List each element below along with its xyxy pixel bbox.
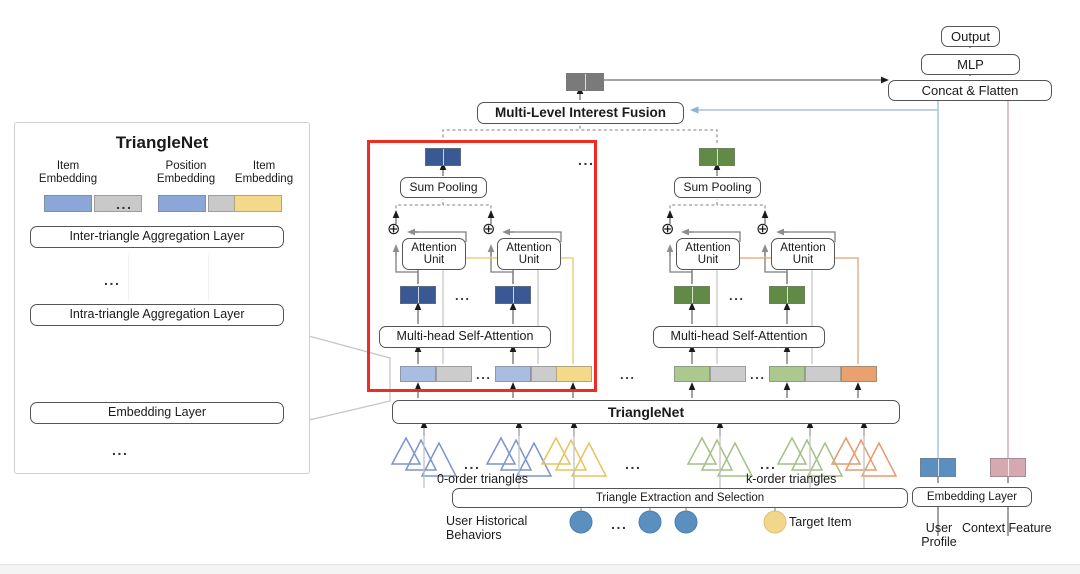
inset-layer-intra-triangle: Intra-triangle Aggregation Layer [30, 304, 284, 326]
module1-mhsa-box[interactable]: Multi-head Self-Attention [379, 326, 551, 348]
module1-attention-unit-2[interactable]: Attention Unit [497, 238, 561, 270]
module1-input-position-1 [436, 366, 472, 382]
module2-plus-up-arrows [670, 214, 765, 224]
triangles-dots-4: ... [760, 456, 776, 472]
module2-input-position-1 [710, 366, 746, 382]
modules-dots-inputs-between: ... [620, 367, 636, 382]
module2-attention-unit-2[interactable]: Attention Unit [771, 238, 835, 270]
inset-label-position-embedding: Position Embedding [140, 160, 232, 186]
inset-title: TriangleNet [14, 133, 310, 152]
label-user-historical-behaviors: User Historical Behaviors [446, 514, 527, 542]
inset-dots-intra: ... [104, 272, 120, 288]
main-triangles-orange [832, 438, 896, 476]
inset-cell-item-blue-1 [44, 195, 92, 212]
right-embedding-layer-box[interactable]: Embedding Layer [912, 487, 1032, 507]
concat-flatten-box[interactable]: Concat & Flatten [888, 80, 1052, 101]
label-target-item: Target Item [789, 515, 852, 529]
module2-pooled-vector [699, 148, 735, 166]
triangles-dots-1: ... [464, 456, 480, 472]
module2-position-lines [717, 266, 812, 364]
inset-layer-embedding: Embedding Layer [30, 402, 284, 424]
module1-input-target [556, 366, 592, 382]
label-context-feature: Context Feature [962, 521, 1052, 535]
inset-layer-inter-triangle: Inter-triangle Aggregation Layer [30, 226, 284, 248]
main-triangles-blue-1 [392, 438, 456, 476]
module1-vector-1 [400, 286, 436, 304]
main-triangles-yellow [542, 438, 606, 476]
context-feature-embedding-vector [990, 458, 1026, 477]
inset-cell-item-blue-2 [158, 195, 206, 212]
target-item-circle [764, 511, 786, 533]
triangles-dots-2: ... [625, 456, 641, 472]
module2-input-item-2 [769, 366, 805, 382]
main-triangles-blue-2 [487, 438, 551, 476]
module-dots-between: ... [578, 152, 594, 168]
inset-dots-triangles: ... [112, 442, 128, 458]
module1-dots-inputs: ... [476, 367, 492, 382]
module2-sum-pooling-dashed [670, 199, 765, 214]
inset-label-item-embedding-1: Item Embedding [26, 160, 110, 186]
module2-input-item-1 [674, 366, 710, 382]
module1-sum-pooling-box[interactable]: Sum Pooling [400, 177, 487, 198]
module1-vector-2 [495, 286, 531, 304]
inset-label-item-embedding-2: Item Embedding [222, 160, 306, 186]
main-triangles-green-2 [778, 438, 842, 476]
module2-target-lines [729, 258, 858, 364]
module1-input-item-2 [495, 366, 531, 382]
main-triangles-green-1 [688, 438, 752, 476]
module2-dots-vectors: ... [729, 288, 745, 303]
module2-input-target [841, 366, 877, 382]
module1-input-item-1 [400, 366, 436, 382]
behaviors-dots: ... [611, 516, 627, 532]
mlp-box[interactable]: MLP [921, 54, 1020, 75]
module1-dots-vectors: ... [455, 288, 471, 303]
multi-level-interest-fusion-box[interactable]: Multi-Level Interest Fusion [477, 102, 684, 124]
fusion-output-vector [566, 73, 604, 91]
triangles-to-trianglenet-arrows [424, 424, 864, 436]
label-k-order-triangles: k-order triangles [746, 472, 836, 486]
module1-pooled-vector [425, 148, 461, 166]
module2-plus-icon-1: ⊕ [661, 221, 674, 239]
output-box[interactable]: Output [941, 26, 1000, 47]
inset-dots-embeddings: ... [116, 196, 132, 212]
page-footer-strip [0, 564, 1080, 574]
module2-plus-icon-2: ⊕ [756, 221, 769, 239]
user-behavior-circles [570, 511, 697, 533]
module1-plus-icon-2: ⊕ [482, 221, 495, 239]
architecture-diagram: TriangleNet Item Embedding Position Embe… [0, 0, 1080, 574]
module2-vector-1 [674, 286, 710, 304]
label-0-order-triangles: 0-order triangles [437, 472, 528, 486]
trianglenet-main-box[interactable]: TriangleNet [392, 400, 900, 424]
module2-sum-pooling-box[interactable]: Sum Pooling [674, 177, 761, 198]
inset-cell-item-yellow [234, 195, 282, 212]
module2-attention-unit-1[interactable]: Attention Unit [676, 238, 740, 270]
module2-mhsa-box[interactable]: Multi-head Self-Attention [653, 326, 825, 348]
module2-input-position-2 [805, 366, 841, 382]
module2-dots-inputs: ... [750, 367, 766, 382]
module1-plus-icon-1: ⊕ [387, 221, 400, 239]
label-user-profile: User Profile [919, 521, 959, 549]
module1-attention-unit-1[interactable]: Attention Unit [402, 238, 466, 270]
module2-vector-2 [769, 286, 805, 304]
triangle-extraction-box[interactable]: Triangle Extraction and Selection [452, 488, 908, 508]
user-profile-embedding-vector [920, 458, 956, 477]
